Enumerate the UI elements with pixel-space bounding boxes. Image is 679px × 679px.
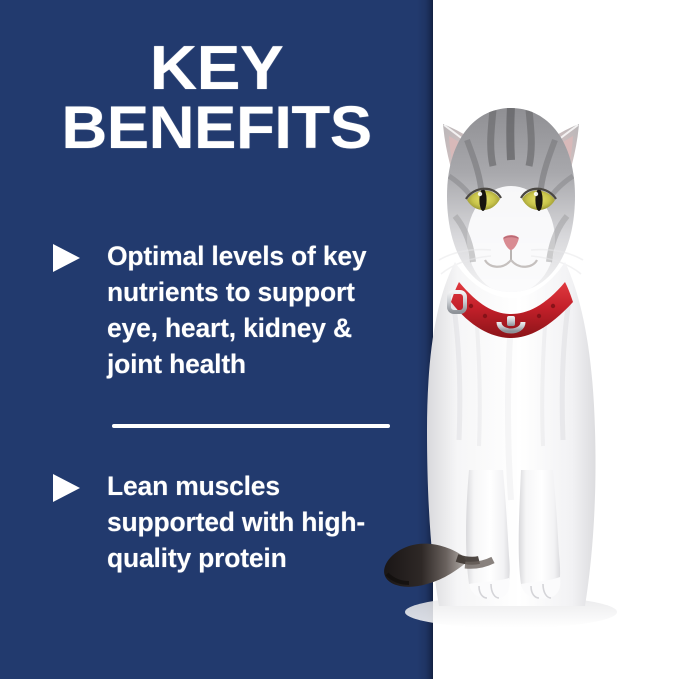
head — [447, 106, 575, 294]
triangle-right-icon — [53, 474, 80, 502]
front-left-paw — [466, 470, 510, 599]
front-right-paw — [519, 470, 561, 599]
cat-photo — [433, 0, 679, 679]
cat-illustration — [343, 0, 679, 679]
key-benefits-panel: KEY BENEFITS Optimal levels of key nutri… — [0, 0, 679, 679]
triangle-right-icon — [53, 244, 80, 272]
